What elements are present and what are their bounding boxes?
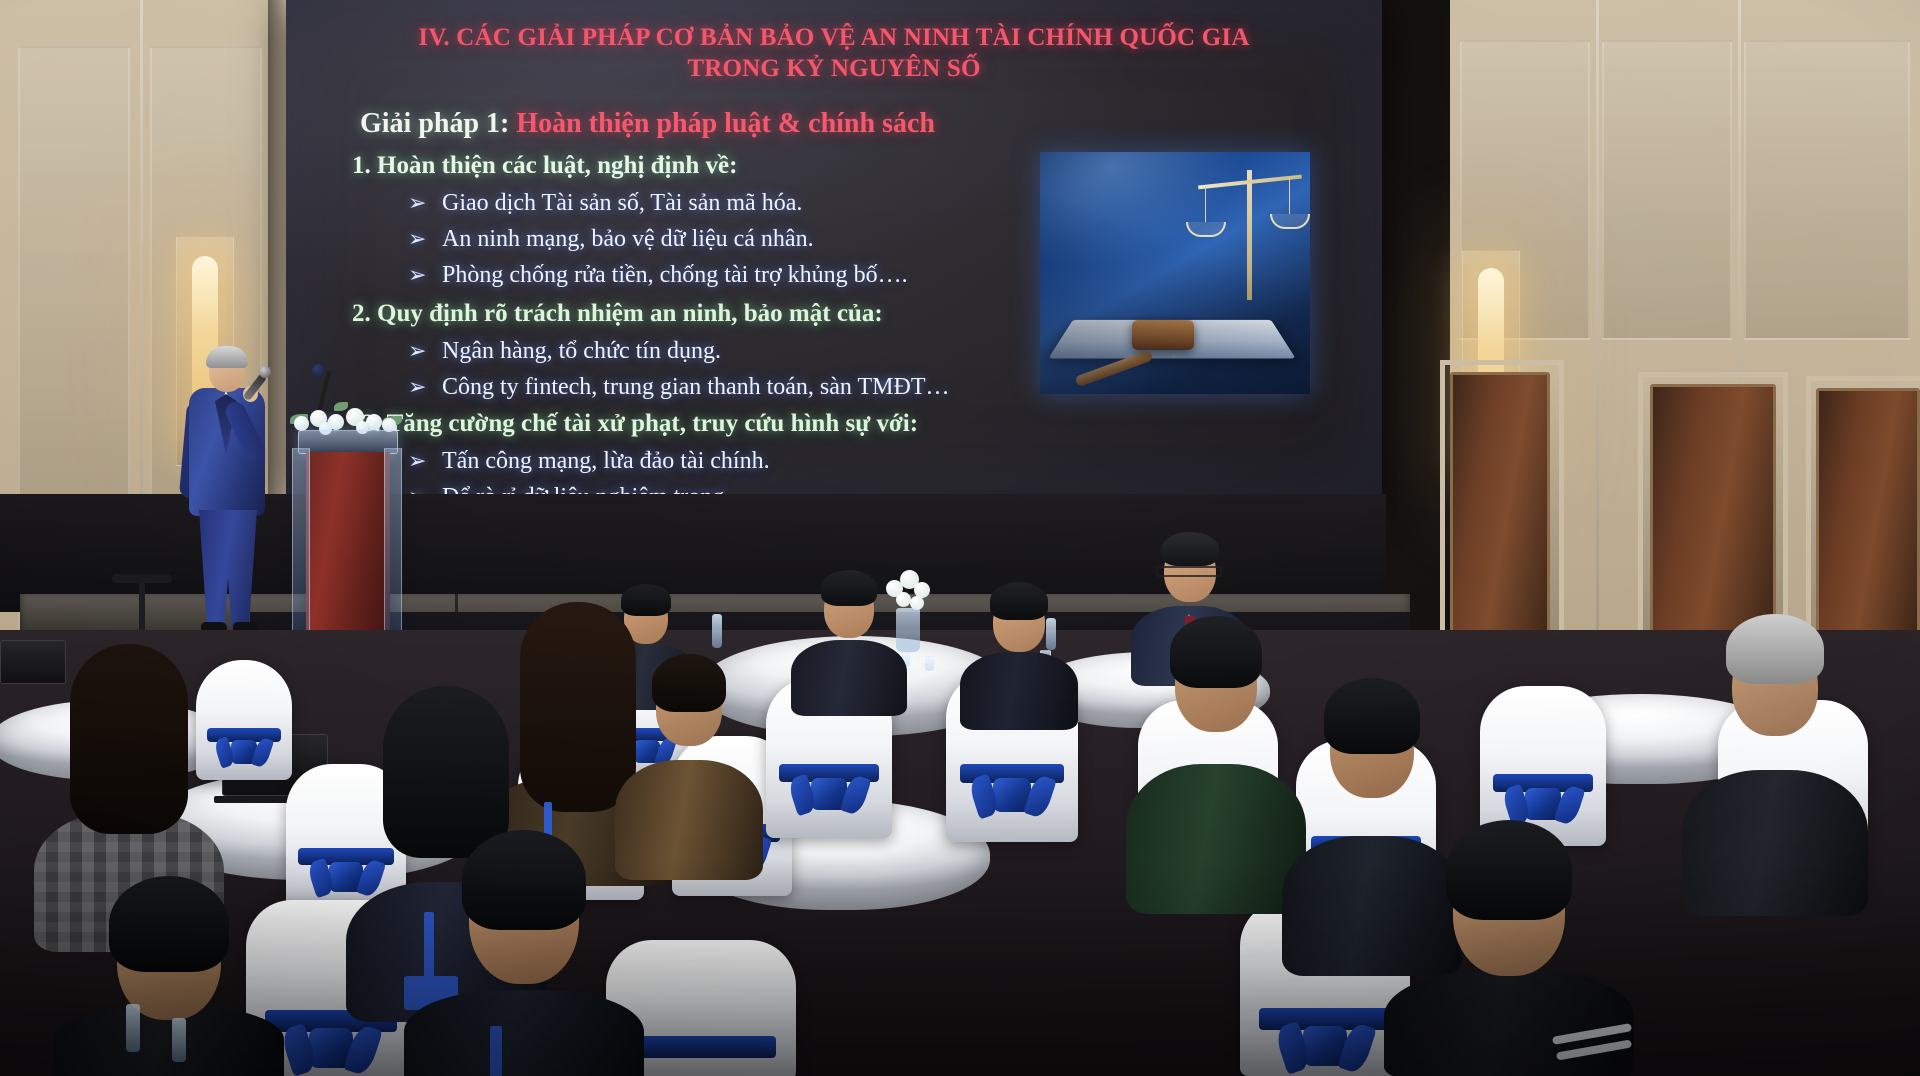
attendee xyxy=(1126,614,1306,904)
water-bottle xyxy=(126,1004,140,1052)
attendee-hair xyxy=(990,582,1048,620)
attendee-hair xyxy=(652,654,726,712)
water-bottle xyxy=(172,1018,186,1062)
microphone-capsule-icon xyxy=(259,366,271,378)
attendee-torso xyxy=(791,640,907,716)
attendee-hair xyxy=(70,644,188,834)
gooseneck-microphone-head-icon xyxy=(312,364,325,377)
attendee xyxy=(54,876,284,1076)
presenter-hair xyxy=(206,346,248,368)
wall-panel xyxy=(1744,40,1910,340)
lectern-side-panel xyxy=(384,448,402,644)
wall-panel xyxy=(18,46,130,546)
water-bottle xyxy=(712,614,722,648)
attendee-hair xyxy=(1161,532,1219,566)
attendee-hair xyxy=(1170,616,1262,688)
chair-bow xyxy=(811,778,847,810)
side-table-top xyxy=(112,574,172,583)
chair-bow xyxy=(1303,1026,1347,1066)
lectern-glass-top xyxy=(298,430,398,454)
flower xyxy=(294,416,309,431)
eyeglasses-icon xyxy=(1156,566,1222,577)
attendee-torso xyxy=(1384,970,1634,1076)
wall-panel xyxy=(1602,40,1732,340)
chair-bow xyxy=(309,1028,353,1068)
attendee xyxy=(404,830,644,1076)
chair-sash xyxy=(626,1036,776,1058)
chair-bow xyxy=(1525,788,1561,820)
side-table-leg xyxy=(139,583,145,635)
attendee-torso xyxy=(1682,770,1868,916)
chair-bow xyxy=(993,778,1031,812)
attendee xyxy=(790,566,908,706)
attendee-hair xyxy=(462,830,586,930)
lectern xyxy=(292,398,402,644)
attendee-hair xyxy=(1324,678,1420,754)
attendee xyxy=(1384,820,1634,1076)
attendee-torso xyxy=(404,990,644,1076)
attendee xyxy=(960,580,1078,720)
lectern-side-panel xyxy=(292,448,310,644)
attendee-torso xyxy=(1126,764,1306,914)
attendee-hair xyxy=(109,876,229,972)
presenter-trousers xyxy=(199,510,257,628)
conference-room-photo: IV. CÁC GIẢI PHÁP CƠ BẢN BẢO VỆ AN NINH … xyxy=(0,0,1920,1076)
wine-glass xyxy=(924,656,935,672)
leaf xyxy=(334,402,348,411)
presenter xyxy=(185,350,275,640)
chair-bow xyxy=(231,740,257,764)
attendee-hair xyxy=(821,570,877,606)
attendee-hair xyxy=(1726,614,1824,684)
attendee-hair xyxy=(1446,820,1572,920)
lectern-body xyxy=(306,452,390,640)
attendee-torso xyxy=(960,652,1078,730)
attendee xyxy=(1682,612,1868,902)
door[interactable] xyxy=(1450,372,1550,658)
screen-bezel xyxy=(282,0,1386,500)
lanyard xyxy=(490,1026,502,1076)
